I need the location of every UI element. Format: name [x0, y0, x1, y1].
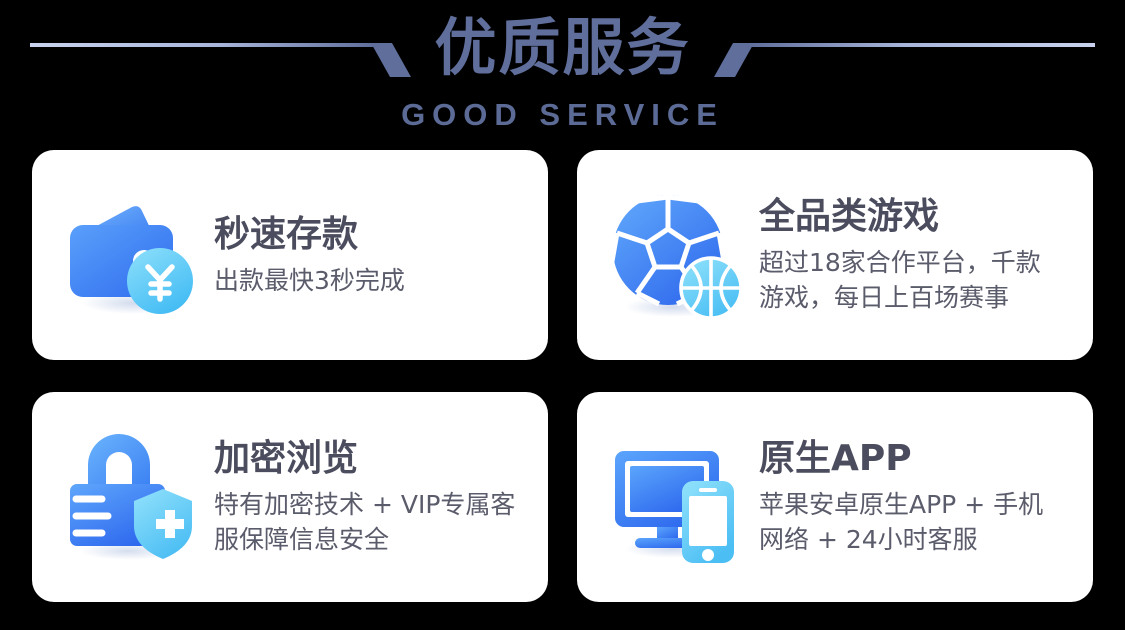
lock-shield-icon — [62, 427, 202, 567]
feature-card-subtitle-line: 服保障信息安全 — [214, 522, 548, 557]
feature-card-subtitle-line: 游戏，每日上百场赛事 — [759, 280, 1093, 315]
page-header: 优质服务 GOOD SERVICE — [0, 0, 1125, 148]
feature-card-subtitle: 出款最快3秒完成 — [214, 263, 548, 298]
feature-card-subtitle-line: 超过18家合作平台，千款 — [759, 245, 1093, 280]
feature-card-grid: 秒速存款 出款最快3秒完成 — [32, 150, 1093, 602]
soccer-basketball-icon — [607, 185, 747, 325]
feature-card-subtitle: 超过18家合作平台，千款 游戏，每日上百场赛事 — [759, 245, 1093, 315]
feature-card-native-app[interactable]: 原生APP 苹果安卓原生APP + 手机 网络 + 24小时客服 — [577, 392, 1093, 602]
page-title: 优质服务 — [0, 6, 1125, 90]
page-subtitle: GOOD SERVICE — [0, 97, 1125, 133]
feature-card-subtitle-line: 网络 + 24小时客服 — [759, 522, 1093, 557]
feature-card-text: 秒速存款 出款最快3秒完成 — [214, 213, 548, 298]
wallet-yuan-icon — [62, 185, 202, 325]
feature-card-text: 原生APP 苹果安卓原生APP + 手机 网络 + 24小时客服 — [759, 437, 1093, 557]
feature-card-text: 加密浏览 特有加密技术 + VIP专属客 服保障信息安全 — [214, 437, 548, 557]
feature-card-title: 原生APP — [759, 437, 1093, 481]
feature-card-subtitle: 苹果安卓原生APP + 手机 网络 + 24小时客服 — [759, 487, 1093, 557]
feature-card-games[interactable]: 全品类游戏 超过18家合作平台，千款 游戏，每日上百场赛事 — [577, 150, 1093, 360]
feature-card-title: 加密浏览 — [214, 437, 548, 481]
feature-card-subtitle-line: 特有加密技术 + VIP专属客 — [214, 487, 548, 522]
monitor-phone-icon — [607, 427, 747, 567]
feature-card-deposit[interactable]: 秒速存款 出款最快3秒完成 — [32, 150, 548, 360]
feature-card-encryption[interactable]: 加密浏览 特有加密技术 + VIP专属客 服保障信息安全 — [32, 392, 548, 602]
feature-card-title: 秒速存款 — [214, 213, 548, 257]
feature-card-subtitle-line: 苹果安卓原生APP + 手机 — [759, 487, 1093, 522]
feature-card-subtitle: 特有加密技术 + VIP专属客 服保障信息安全 — [214, 487, 548, 557]
feature-card-subtitle-line: 出款最快3秒完成 — [214, 263, 548, 298]
feature-card-title: 全品类游戏 — [759, 195, 1093, 239]
feature-card-text: 全品类游戏 超过18家合作平台，千款 游戏，每日上百场赛事 — [759, 195, 1093, 315]
